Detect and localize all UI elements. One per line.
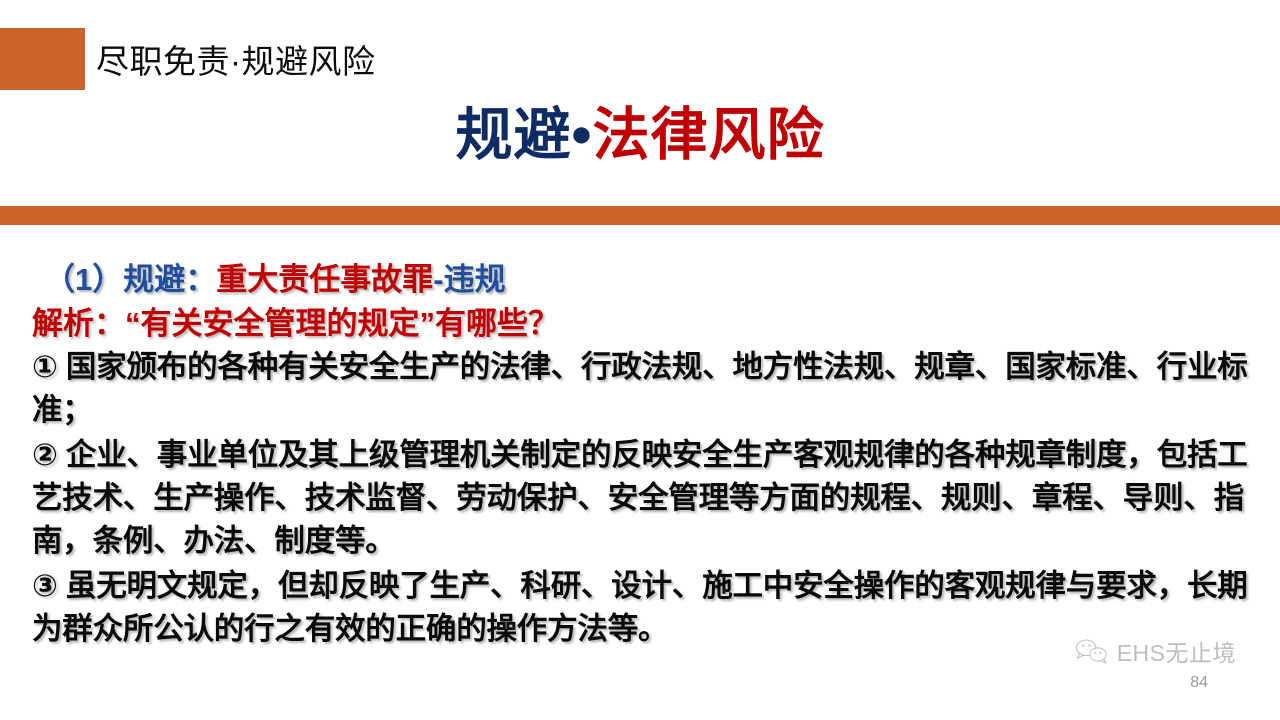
- wechat-icon: [1075, 638, 1109, 665]
- question-heading-suffix: -违规: [433, 262, 505, 297]
- content-item-2: ② 企业、事业单位及其上级管理机关制定的反映安全生产客观规律的各种规章制度，包括…: [32, 434, 1248, 563]
- page-title-segment-red: 法律风险: [592, 103, 824, 167]
- question-heading-prefix: （1）规避：: [44, 262, 216, 297]
- divider-rule: [0, 206, 1280, 225]
- content-item-1: ① 国家颁布的各种有关安全生产的法律、行政法规、地方性法规、规章、国家标准、行业…: [32, 346, 1248, 432]
- watermark-label: EHS无止境: [1117, 634, 1236, 668]
- page-title-segment-blue: 规避: [456, 103, 572, 167]
- page-title: 规避•法律风险: [0, 106, 1280, 166]
- question-heading: （1）规避：重大责任事故罪-违规: [32, 258, 1248, 302]
- content-body: （1）规避：重大责任事故罪-违规 解析：“有关安全管理的规定”有哪些？ ① 国家…: [32, 258, 1248, 651]
- analysis-heading: 解析：“有关安全管理的规定”有哪些？: [32, 304, 1248, 344]
- page-number: 84: [1190, 674, 1208, 692]
- question-heading-crime: 重大责任事故罪: [216, 262, 433, 297]
- header-title: 尽职免责·规避风险: [96, 35, 376, 83]
- slide: 尽职免责·规避风险 规避•法律风险 （1）规避：重大责任事故罪-违规 解析：“有…: [0, 0, 1280, 720]
- header-accent-block: [0, 28, 85, 90]
- content-item-3: ③ 虽无明文规定，但却反映了生产、科研、设计、施工中安全操作的客观规律与要求，长…: [32, 565, 1248, 651]
- page-title-bullet-separator: •: [572, 103, 593, 167]
- slide-header: 尽职免责·规避风险: [0, 28, 1280, 90]
- watermark: EHS无止境: [1075, 634, 1236, 668]
